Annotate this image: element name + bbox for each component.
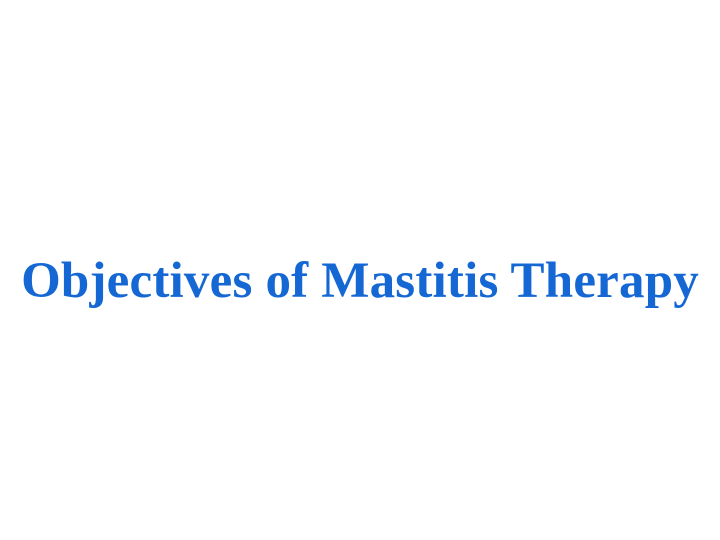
slide-canvas: Objectives of Mastitis Therapy <box>0 0 720 540</box>
page-title: Objectives of Mastitis Therapy <box>21 255 699 309</box>
slide-body-placeholder <box>54 330 666 500</box>
slide-title-placeholder: Objectives of Mastitis Therapy <box>0 250 720 314</box>
